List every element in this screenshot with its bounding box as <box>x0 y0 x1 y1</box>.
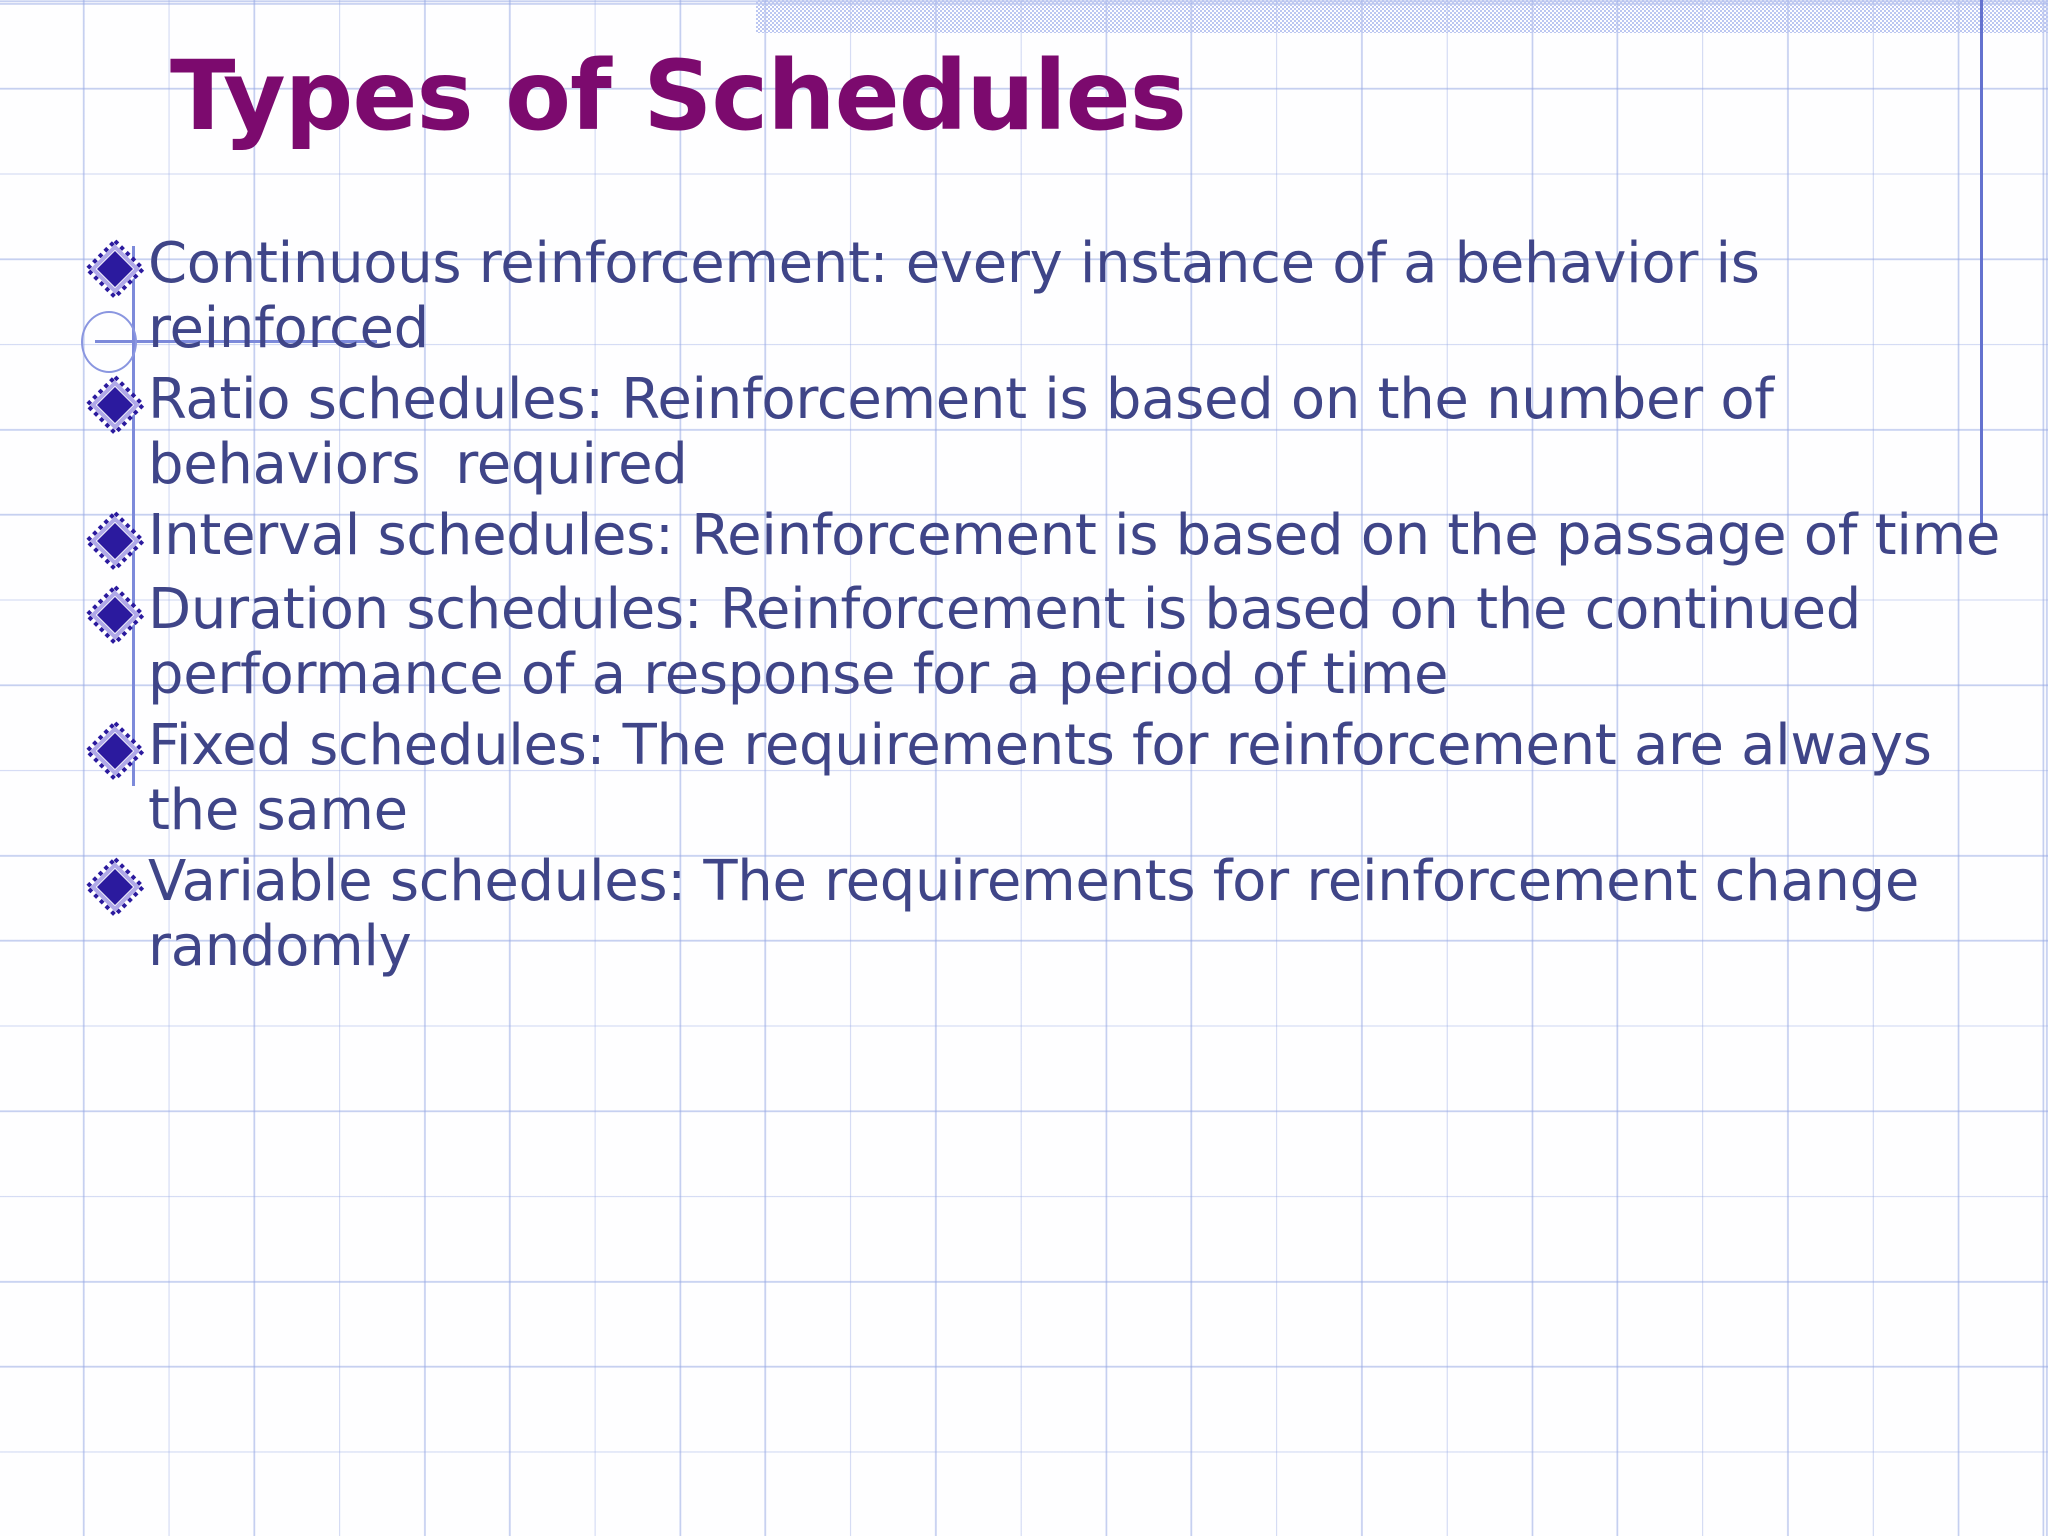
diamond-bullet-icon <box>84 238 146 300</box>
bullet-list: Continuous reinforcement: every instance… <box>84 232 2014 986</box>
list-item-label: Fixed schedules: The requirements for re… <box>148 714 2014 844</box>
list-item: Duration schedules: Reinforcement is bas… <box>84 578 2014 708</box>
diamond-bullet-icon <box>84 856 146 918</box>
list-item-label: Continuous reinforcement: every instance… <box>148 232 2014 362</box>
diamond-bullet-icon <box>84 374 146 436</box>
list-item: Variable schedules: The requirements for… <box>84 850 2014 980</box>
list-item-label: Variable schedules: The requirements for… <box>148 850 2014 980</box>
diamond-bullet-icon <box>84 720 146 782</box>
page-title: Types of Schedules <box>170 48 1186 144</box>
list-item: Interval schedules: Reinforcement is bas… <box>84 504 2014 572</box>
list-item-label: Ratio schedules: Reinforcement is based … <box>148 368 2014 498</box>
list-item: Fixed schedules: The requirements for re… <box>84 714 2014 844</box>
list-item: Ratio schedules: Reinforcement is based … <box>84 368 2014 498</box>
slide-canvas: Types of Schedules Continuous reinforcem… <box>0 0 2048 1536</box>
dither-band-decoration <box>756 0 2048 33</box>
list-item-label: Duration schedules: Reinforcement is bas… <box>148 578 2014 708</box>
diamond-bullet-icon <box>84 584 146 646</box>
list-item: Continuous reinforcement: every instance… <box>84 232 2014 362</box>
list-item-label: Interval schedules: Reinforcement is bas… <box>148 504 2014 569</box>
diamond-bullet-icon <box>84 510 146 572</box>
